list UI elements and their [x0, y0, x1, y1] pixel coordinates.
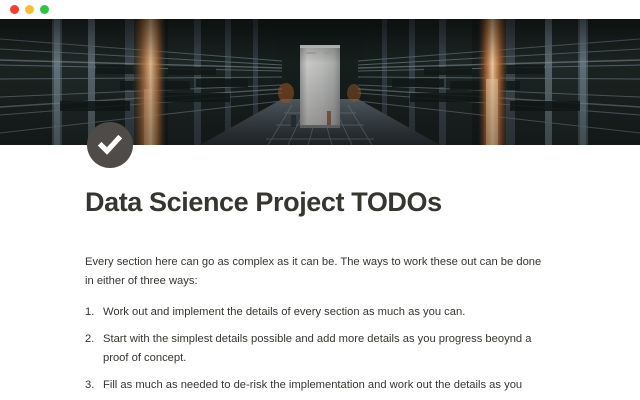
maximize-window-button[interactable] — [40, 5, 49, 14]
list-item-text[interactable]: Fill as much as needed to de-risk the im… — [103, 376, 553, 400]
list-item[interactable]: 3. Fill as much as needed to de-risk the… — [85, 376, 553, 400]
list-item[interactable]: 2. Start with the simplest details possi… — [85, 330, 553, 368]
list-item-text[interactable]: Work out and implement the details of ev… — [103, 303, 553, 322]
list-item-number: 2. — [85, 330, 103, 349]
page-content: Data Science Project TODOs Every section… — [0, 145, 640, 400]
app-window: Data Science Project TODOs Every section… — [0, 0, 640, 400]
close-window-button[interactable] — [10, 5, 19, 14]
minimize-window-button[interactable] — [25, 5, 34, 14]
list-item-number: 1. — [85, 303, 103, 322]
window-titlebar — [0, 0, 640, 19]
intro-paragraph[interactable]: Every section here can go as complex as … — [85, 253, 553, 291]
check-circle-icon[interactable] — [87, 122, 133, 168]
window-controls — [10, 5, 49, 14]
list-item[interactable]: 1. Work out and implement the details of… — [85, 303, 553, 322]
list-item-number: 3. — [85, 376, 103, 395]
list-item-text[interactable]: Start with the simplest details possible… — [103, 330, 553, 368]
document-content: Every section here can go as complex as … — [85, 253, 553, 400]
todo-numbered-list: 1. Work out and implement the details of… — [85, 303, 553, 400]
page-title[interactable]: Data Science Project TODOs — [85, 186, 442, 218]
checkmark-glyph — [97, 132, 123, 158]
